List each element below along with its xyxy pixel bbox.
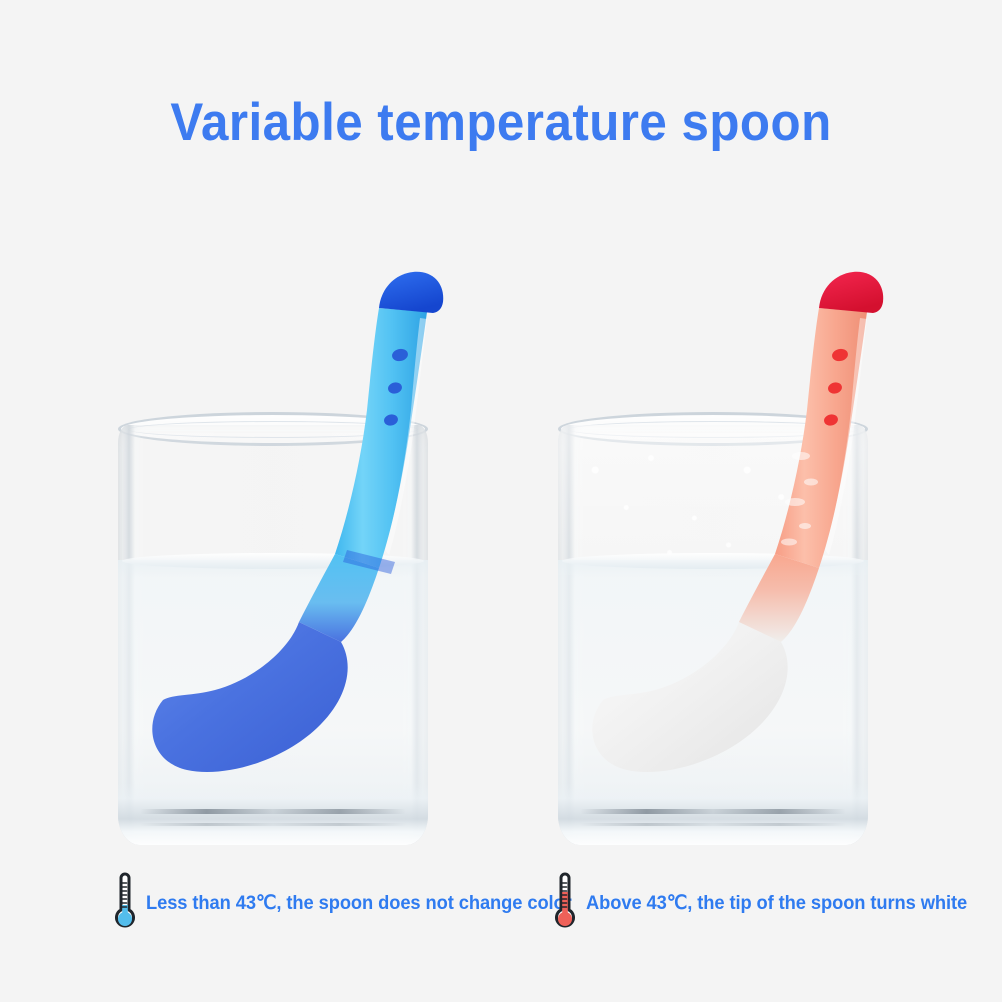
spoon-cap-tip (379, 272, 443, 313)
product-scene (0, 0, 1002, 1002)
caption-cold-text: Less than 43℃, the spoon does not change… (146, 891, 572, 915)
cold-panel (103, 250, 443, 860)
spoon-bowl-white (592, 622, 787, 772)
caption-hot-text: Above 43℃, the tip of the spoon turns wh… (586, 891, 967, 915)
thermometer-hot-icon (552, 872, 578, 934)
spoon-cap-tip (819, 272, 883, 313)
spoon-bowl (152, 622, 347, 772)
product-infographic: Variable temperature spoon (0, 0, 1002, 1002)
thermometer-cold-icon (112, 872, 138, 934)
caption-cold: Less than 43℃, the spoon does not change… (112, 872, 599, 934)
caption-hot: Above 43℃, the tip of the spoon turns wh… (552, 872, 991, 934)
blue-temperature-spoon (103, 250, 443, 860)
spoon-handle (335, 308, 427, 568)
spoon-handle (775, 308, 867, 568)
hot-panel (543, 250, 883, 860)
red-temperature-spoon (543, 250, 883, 860)
